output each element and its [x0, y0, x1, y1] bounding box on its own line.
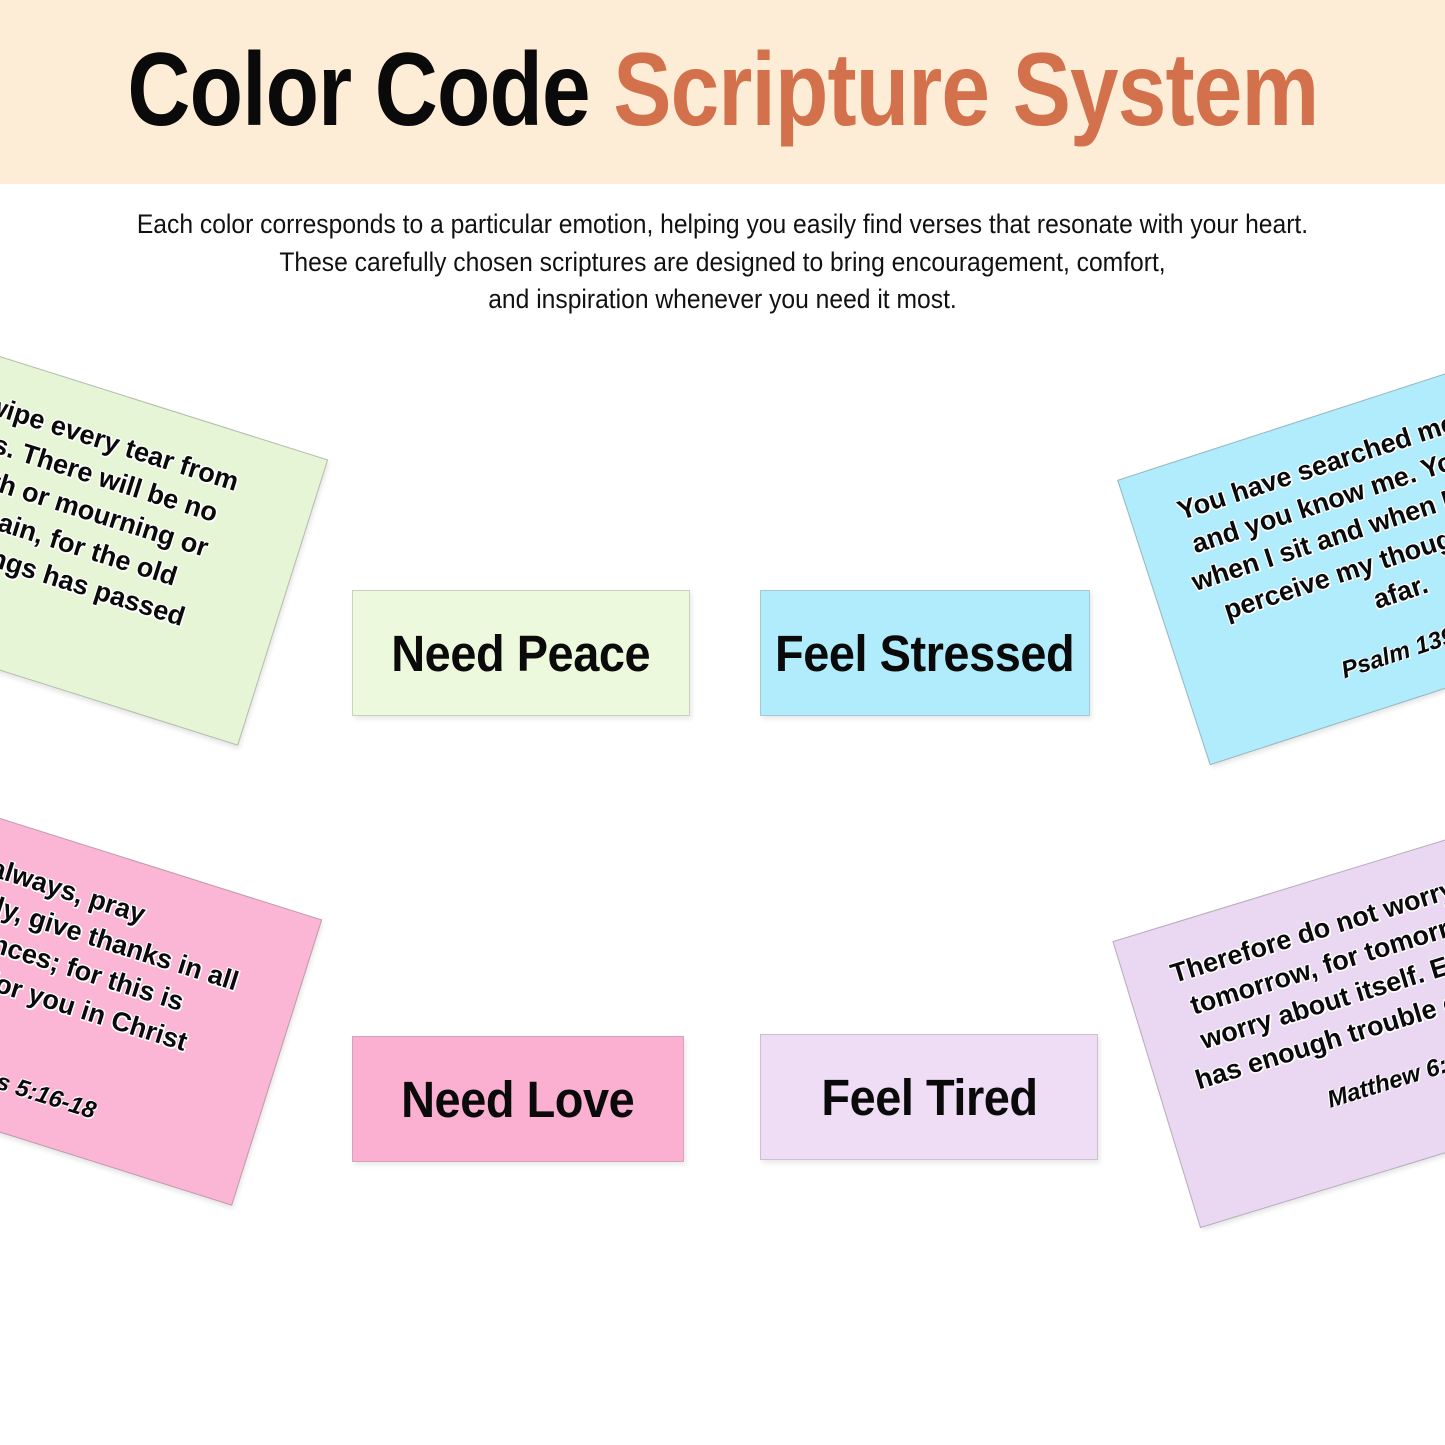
intro-line-2: These carefully chosen scriptures are de… — [51, 244, 1395, 282]
page-title: Color Code Scripture System — [127, 38, 1318, 142]
emotion-label-feel-stressed[interactable]: Feel Stressed — [760, 590, 1090, 716]
page-title-accent: Scripture System — [613, 32, 1318, 148]
scripture-card-love[interactable]: Rejoice always, pray continually, give t… — [0, 778, 322, 1205]
scripture-card-stressed-verse: You have searched me, Lord, and you know… — [1160, 375, 1445, 671]
header-band: Color Code Scripture System — [0, 0, 1445, 184]
emotion-label-need-love[interactable]: Need Love — [352, 1036, 684, 1162]
emotion-label-need-peace[interactable]: Need Peace — [352, 590, 690, 716]
intro-line-1: Each color corresponds to a particular e… — [51, 206, 1395, 244]
emotion-label-need-love-text: Need Love — [401, 1070, 634, 1129]
scripture-card-tired-verse: Therefore do not worry about tomorrow, f… — [1155, 844, 1445, 1099]
intro-paragraph: Each color corresponds to a particular e… — [51, 206, 1395, 319]
scripture-card-peace[interactable]: He will wipe every tear from their eyes.… — [0, 318, 328, 745]
scripture-card-love-verse: Rejoice always, pray continually, give t… — [0, 818, 280, 1111]
emotion-label-need-peace-text: Need Peace — [392, 624, 651, 683]
scripture-card-peace-verse: He will wipe every tear from their eyes.… — [0, 358, 286, 685]
emotion-label-feel-tired[interactable]: Feel Tired — [760, 1034, 1098, 1160]
page-title-primary: Color Code — [127, 32, 613, 148]
emotion-label-feel-tired-text: Feel Tired — [821, 1068, 1037, 1127]
scripture-card-tired[interactable]: Therefore do not worry about tomorrow, f… — [1112, 804, 1445, 1228]
scripture-card-stressed[interactable]: You have searched me, Lord, and you know… — [1117, 335, 1445, 766]
emotion-label-feel-stressed-text: Feel Stressed — [775, 624, 1074, 683]
intro-line-3: and inspiration whenever you need it mos… — [51, 281, 1395, 319]
